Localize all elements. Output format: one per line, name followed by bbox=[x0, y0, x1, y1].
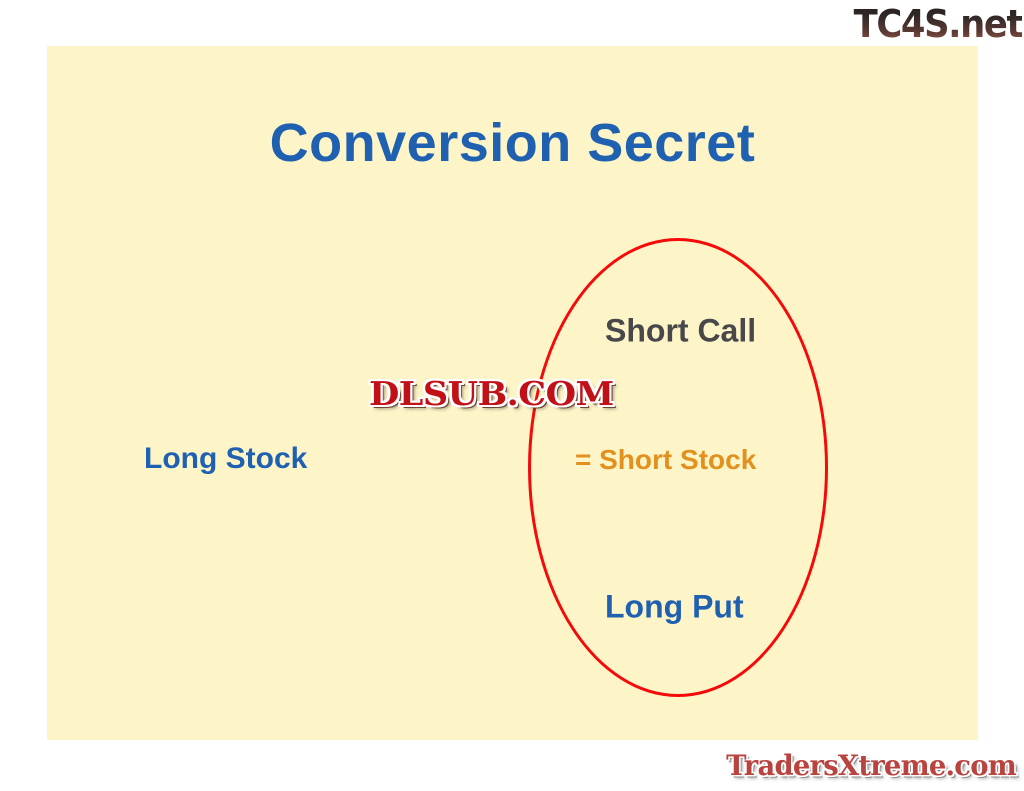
diagram-label-short-call: Short Call bbox=[605, 313, 756, 350]
diagram-label-short-stock-result: = Short Stock bbox=[575, 444, 756, 476]
brand-logo-tc4s: TC4S.net bbox=[840, 2, 1022, 46]
slide-panel: Conversion Secret Short Call Long Stock … bbox=[47, 46, 978, 740]
slide-root: TC4S.net Conversion Secret Short Call Lo… bbox=[0, 0, 1024, 791]
diagram-label-long-stock: Long Stock bbox=[144, 442, 307, 476]
diagram-label-long-put: Long Put bbox=[605, 589, 744, 626]
page-title: Conversion Secret bbox=[47, 112, 978, 174]
footer-logo-tradersxtreme: TradersXtreme.com bbox=[722, 746, 1016, 786]
watermark-dlsub: DLSUB.COM bbox=[369, 374, 614, 413]
